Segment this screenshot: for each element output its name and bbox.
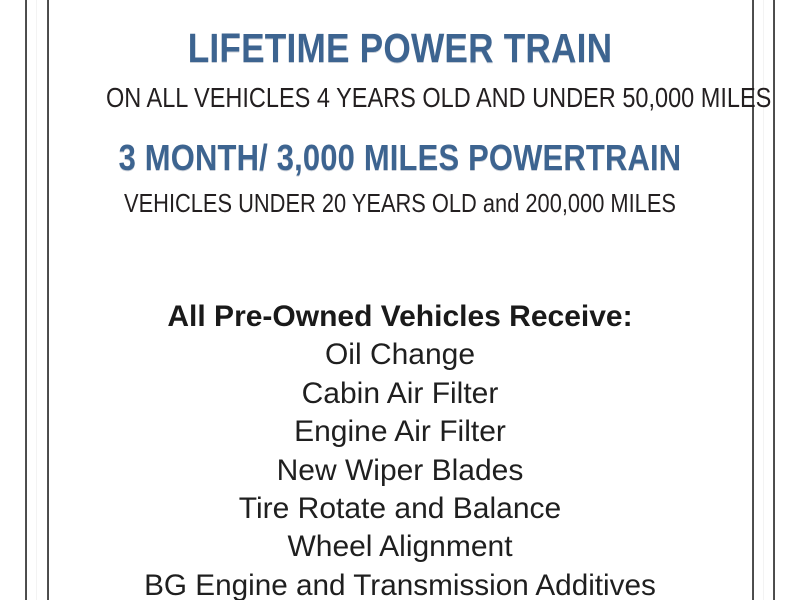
service-item-bg-additives: BG Engine and Transmission Additives	[54, 567, 747, 600]
lifetime-powertrain-subline: ON ALL VEHICLES 4 YEARS OLD AND UNDER 50…	[106, 84, 694, 112]
services-list-title: All Pre-Owned Vehicles Receive:	[50, 298, 750, 336]
service-item-wiper-blades: New Wiper Blades	[50, 452, 750, 490]
service-item-cabin-air-filter: Cabin Air Filter	[50, 375, 750, 413]
page-border-rule-outer-left	[25, 0, 27, 600]
warranty-block-lifetime: LIFETIME POWER TRAIN ON ALL VEHICLES 4 Y…	[50, 28, 750, 112]
warranty-flyer: LIFETIME POWER TRAIN ON ALL VEHICLES 4 Y…	[0, 0, 800, 600]
warranty-block-three-month: 3 MONTH/ 3,000 MILES POWERTRAIN VEHICLES…	[50, 140, 750, 216]
service-item-oil-change: Oil Change	[50, 336, 750, 374]
service-item-tire-rotate-balance: Tire Rotate and Balance	[50, 490, 750, 528]
page-border-rule-outer-right	[773, 0, 775, 600]
page-seam-left	[36, 0, 37, 600]
services-list: All Pre-Owned Vehicles Receive: Oil Chan…	[50, 298, 750, 600]
lifetime-powertrain-headline: LIFETIME POWER TRAIN	[99, 28, 701, 69]
three-month-powertrain-headline: 3 MONTH/ 3,000 MILES POWERTRAIN	[99, 140, 701, 176]
three-month-powertrain-subline: VEHICLES UNDER 20 YEARS OLD and 200,000 …	[106, 190, 694, 216]
page-border-rule-inner-left	[47, 0, 49, 600]
service-item-engine-air-filter: Engine Air Filter	[50, 413, 750, 451]
service-item-wheel-alignment: Wheel Alignment	[50, 528, 750, 566]
